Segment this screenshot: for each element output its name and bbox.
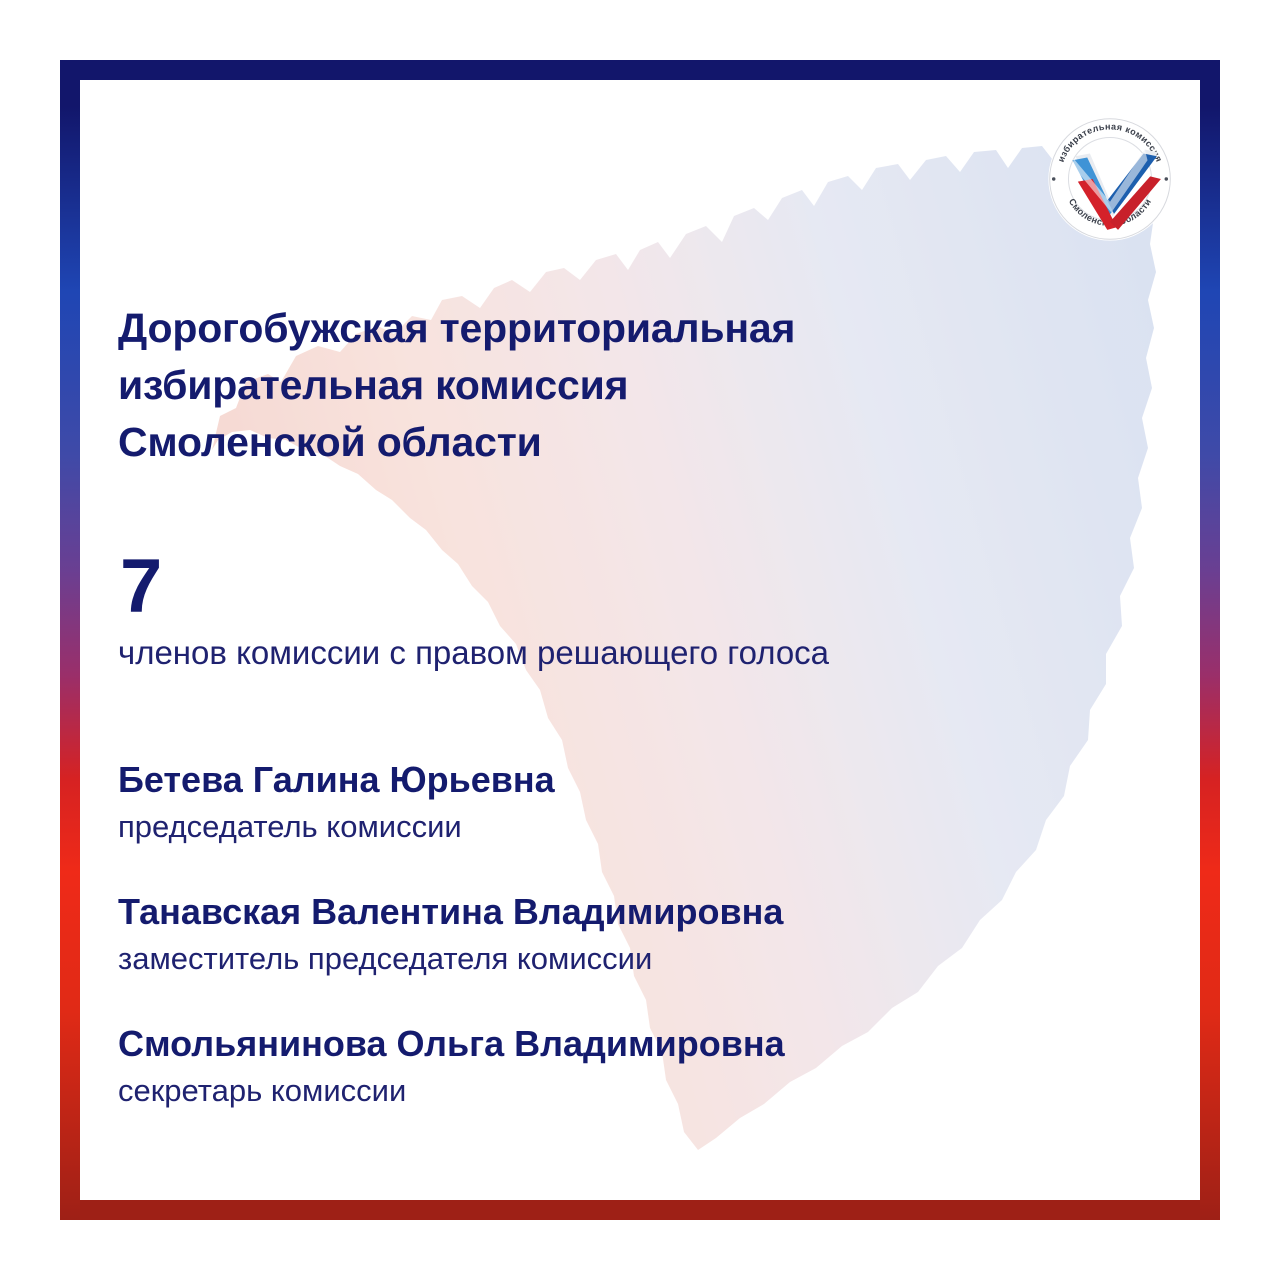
frame-right-bar — [1200, 60, 1220, 1220]
page-title: Дорогобужская территориальная избиратель… — [118, 300, 1078, 471]
frame-bottom-bar — [60, 1200, 1220, 1220]
member-name: Танавская Валентина Владимировна — [118, 889, 1078, 934]
member-role: секретарь комиссии — [118, 1072, 1078, 1109]
poster-canvas: избирательная комиссия Смоленской област… — [0, 0, 1280, 1280]
election-commission-emblem-icon: избирательная комиссия Смоленской област… — [1043, 112, 1177, 246]
frame-top-bar — [60, 60, 1220, 80]
member-role: заместитель председателя комиссии — [118, 940, 1078, 977]
member-name: Смольянинова Ольга Владимировна — [118, 1021, 1078, 1066]
content-column: Дорогобужская территориальная избиратель… — [118, 300, 1078, 1110]
member-role: председатель комиссии — [118, 808, 1078, 845]
member-count-number: 7 — [120, 553, 1078, 621]
member-count-caption: членов комиссии с правом решающего голос… — [118, 633, 1078, 673]
list-item: Бетева Галина Юрьевна председатель комис… — [118, 757, 1078, 845]
list-item: Танавская Валентина Владимировна замести… — [118, 889, 1078, 977]
frame-left-bar — [60, 60, 80, 1220]
member-count-block: 7 членов комиссии с правом решающего гол… — [118, 553, 1078, 673]
member-name: Бетева Галина Юрьевна — [118, 757, 1078, 802]
list-item: Смольянинова Ольга Владимировна секретар… — [118, 1021, 1078, 1109]
members-list: Бетева Галина Юрьевна председатель комис… — [118, 757, 1078, 1110]
